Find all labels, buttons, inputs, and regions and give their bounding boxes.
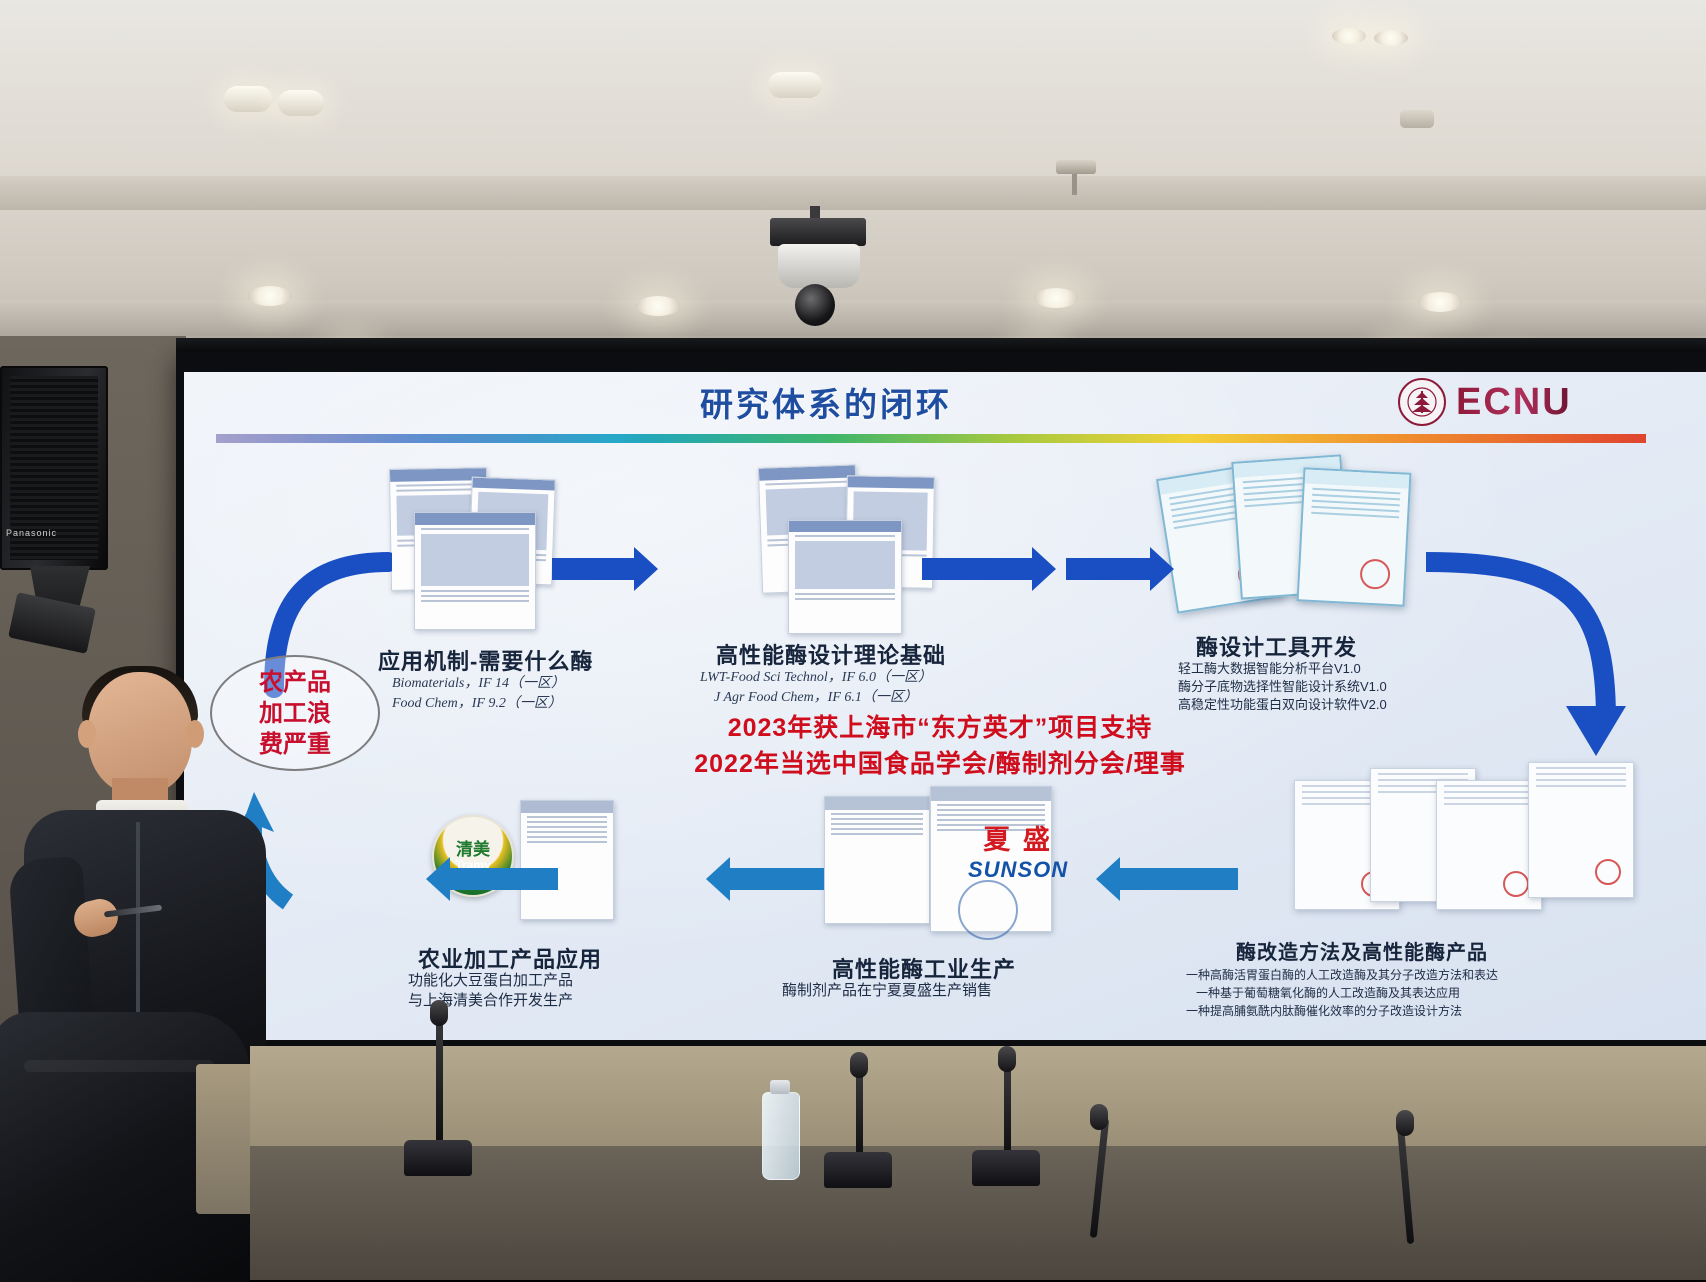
presenter-head [88,672,192,794]
sensor-stem [1072,173,1077,195]
microphone-stem [856,1066,863,1158]
camera-mount [770,218,866,246]
presenter-ear-left [78,720,96,748]
paper-thumbnail [414,512,536,630]
node-sub-1-0: Biomaterials，IF 14（一区） [392,674,565,694]
patent-thumbnail [1528,762,1634,898]
smoke-detector-icon [1400,110,1434,128]
water-bottle [762,1092,800,1180]
bottle-cap [770,1080,790,1094]
wall-speaker [0,366,108,570]
presenter-ear-right [186,720,204,748]
enzyme-doc-thumbnail [824,796,930,924]
microphone-base [824,1152,892,1188]
microphone-head [1090,1104,1108,1130]
sunson-logo-en: SUNSON [968,857,1068,883]
node-title-1: 应用机制-需要什么酶 [378,644,593,676]
downlight-icon [636,296,680,316]
downlight-icon [1034,288,1078,308]
node-sub-4-2: 一种提高脯氨酰内肽酶催化效率的分子改造设计方法 [1186,1002,1462,1020]
downlight-icon [768,72,822,98]
downlight-icon [248,286,292,306]
microphone-base [972,1150,1040,1186]
node-sub-4-1: 一种基于葡萄糖氧化酶的人工改造酶及其表达应用 [1196,984,1460,1002]
speaker-brand-label: Panasonic [6,528,57,538]
ceiling-camera [778,244,860,288]
flow-arrow-right [1066,558,1152,580]
downlight-icon [224,86,272,112]
table-front-panel [250,1046,1706,1150]
sunson-seal-icon [958,880,1018,940]
flow-arrow-right [922,558,1034,580]
ceiling-sensor [1056,160,1096,174]
node-sub-1-1: Food Chem，IF 9.2（一区） [392,694,562,714]
ecnu-logo: ECNU [1398,378,1572,426]
node-sub-2-1: J Agr Food Chem，IF 6.1（一区） [714,688,918,708]
node-title-4: 酶改造方法及高性能酶产品 [1236,936,1488,965]
node-sub-4-0: 一种高酶活胃蛋白酶的人工改造酶及其分子改造方法和表达 [1186,966,1498,984]
sunson-logo: 夏 盛 SUNSON [968,818,1068,883]
page-title: 研究体系的闭环 [700,378,952,426]
flow-arrow-right [552,558,636,580]
microphone-head [850,1052,868,1078]
flow-arrow-left [1118,868,1238,890]
downlight-icon [278,90,324,116]
product-doc-thumbnail [520,800,614,920]
highlight-line-1: 2023年获上海市“东方英才”项目支持 [620,710,1260,746]
presenter-jacket-zipper [136,822,140,1022]
rainbow-divider-fade [216,434,1646,443]
flow-arrow-left [728,868,824,890]
microphone-base [404,1140,472,1176]
coat-fold [24,1060,214,1072]
node-title-5: 高性能酶工业生产 [832,952,1016,984]
node-title-3: 酶设计工具开发 [1196,630,1357,662]
microphone-stem [436,1014,443,1146]
node-title-6: 农业加工产品应用 [418,942,602,974]
highlight-line-2: 2022年当选中国食品学会/酶制剂分会/理事 [620,746,1260,782]
certificate-thumbnail [1297,467,1412,606]
microphone-head [1396,1110,1414,1136]
tramy-logo-cn: 清美 [456,841,490,858]
node-title-2: 高性能酶设计理论基础 [716,638,946,670]
node-sub-6-0: 功能化大豆蛋白加工产品 [408,972,573,990]
flow-arrow-left [448,868,558,890]
downlight-icon [1332,28,1366,44]
microphone-stem [1004,1060,1011,1156]
ecnu-seal-icon [1398,378,1446,426]
node-sub-5-0: 酶制剂产品在宁夏夏盛生产销售 [782,982,992,1000]
microphone-head [430,1000,448,1026]
camera-lens-icon [795,284,835,326]
ecnu-wordmark: ECNU [1456,381,1572,424]
node-sub-2-0: LWT-Food Sci Technol，IF 6.0（一区） [700,668,932,688]
patent-thumbnail [1436,780,1542,910]
downlight-icon [1418,292,1462,312]
downlight-icon [1374,30,1408,46]
sunson-logo-cn: 夏 盛 [968,818,1068,857]
microphone-head [998,1046,1016,1072]
paper-thumbnail [788,520,902,634]
node-sub-3-1: 酶分子底物选择性智能设计系统V1.0 [1178,678,1387,696]
ceiling-beam-upper [0,176,1706,210]
highlight-text: 2023年获上海市“东方英才”项目支持 2022年当选中国食品学会/酶制剂分会/… [620,710,1260,782]
node-sub-3-0: 轻工酶大数据智能分析平台V1.0 [1178,660,1361,678]
